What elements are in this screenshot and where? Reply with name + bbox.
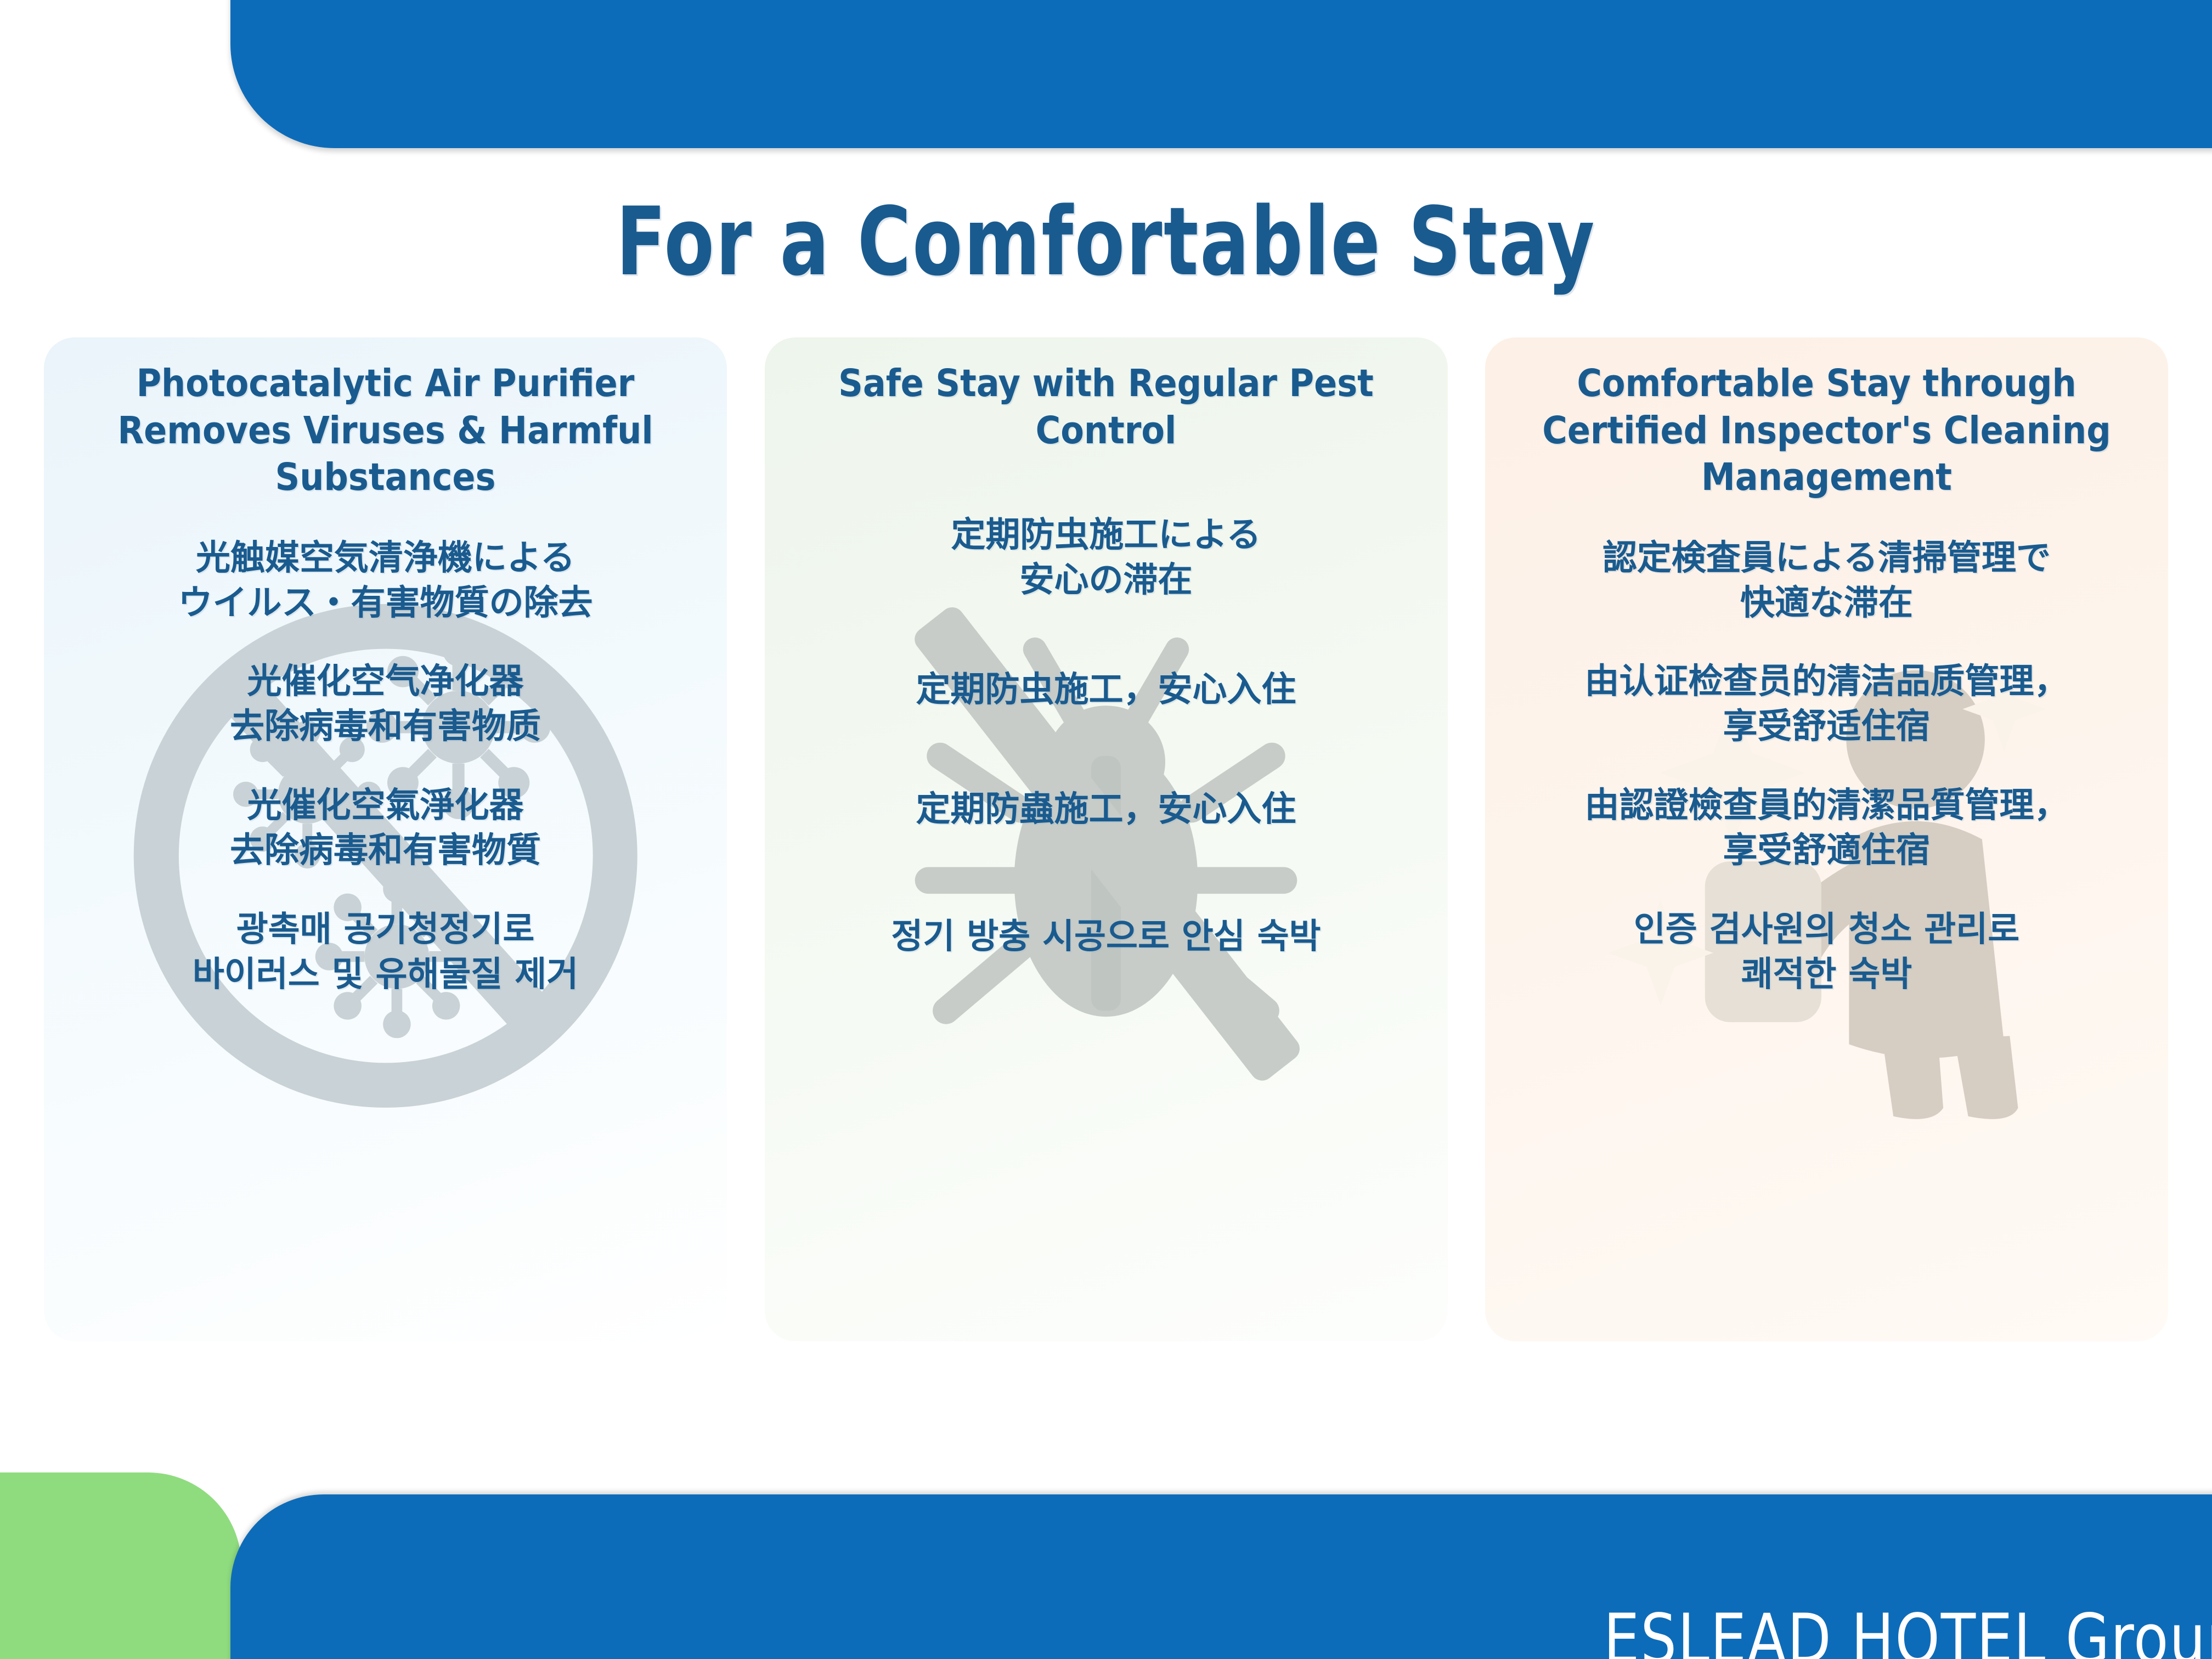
- card-text-chinese-traditional: 由認證檢查員的清潔品質管理， 享受舒適住宿: [1499, 783, 2154, 873]
- feature-card-photocatalytic-air-purifier: Photocatalytic Air Purifier Removes Viru…: [44, 337, 727, 1341]
- card-title: Comfortable Stay through Certified Inspe…: [1499, 360, 2154, 501]
- card-text-japanese: 定期防虫施工による 安心の滞在: [779, 512, 1434, 602]
- card-text-korean: 광촉매 공기청정기로 바이러스 및 유해물질 제거: [58, 907, 713, 997]
- title-spacer: [779, 464, 1434, 472]
- card-text-chinese-simplified: 定期防虫施工，安心入住: [779, 667, 1434, 712]
- bottom-green-accent: [0, 1472, 241, 1659]
- card-text-japanese: 光触媒空気清浄機による ウイルス・有害物質の除去: [58, 535, 713, 625]
- bottom-banner: ESLEAD HOTEL Group: [230, 1494, 2212, 1659]
- card-text-korean: 인증 검사원의 청소 관리로 쾌적한 숙박: [1499, 907, 2154, 997]
- card-title: Photocatalytic Air Purifier Removes Viru…: [58, 360, 713, 501]
- card-text-korean: 정기 방충 시공으로 안심 숙박: [779, 914, 1434, 959]
- top-banner-decoration: [230, 0, 2212, 148]
- card-text-japanese: 認定検査員による清掃管理で 快適な滞在: [1499, 535, 2154, 625]
- card-content: Safe Stay with Regular Pest Control 定期防虫…: [779, 360, 1434, 959]
- card-text-chinese-traditional: 定期防蟲施工，安心入住: [779, 787, 1434, 832]
- card-text-chinese-traditional: 光催化空氣淨化器 去除病毒和有害物質: [58, 783, 713, 873]
- slide-root: For a Comfortable Stay: [0, 0, 2212, 1659]
- feature-card-certified-inspector-cleaning: Comfortable Stay through Certified Inspe…: [1485, 337, 2168, 1341]
- brand-logo-text: ESLEAD HOTEL Group: [1604, 1600, 2212, 1659]
- feature-cards-row: Photocatalytic Air Purifier Removes Viru…: [0, 337, 2212, 1361]
- page-title: For a Comfortable Stay: [155, 187, 2057, 297]
- card-title: Safe Stay with Regular Pest Control: [779, 360, 1434, 454]
- feature-card-regular-pest-control: Safe Stay with Regular Pest Control 定期防虫…: [765, 337, 1448, 1341]
- card-content: Comfortable Stay through Certified Inspe…: [1499, 360, 2154, 997]
- card-text-chinese-simplified: 由认证检查员的清洁品质管理， 享受舒适住宿: [1499, 659, 2154, 749]
- card-content: Photocatalytic Air Purifier Removes Viru…: [58, 360, 713, 997]
- card-text-chinese-simplified: 光催化空气净化器 去除病毒和有害物质: [58, 659, 713, 749]
